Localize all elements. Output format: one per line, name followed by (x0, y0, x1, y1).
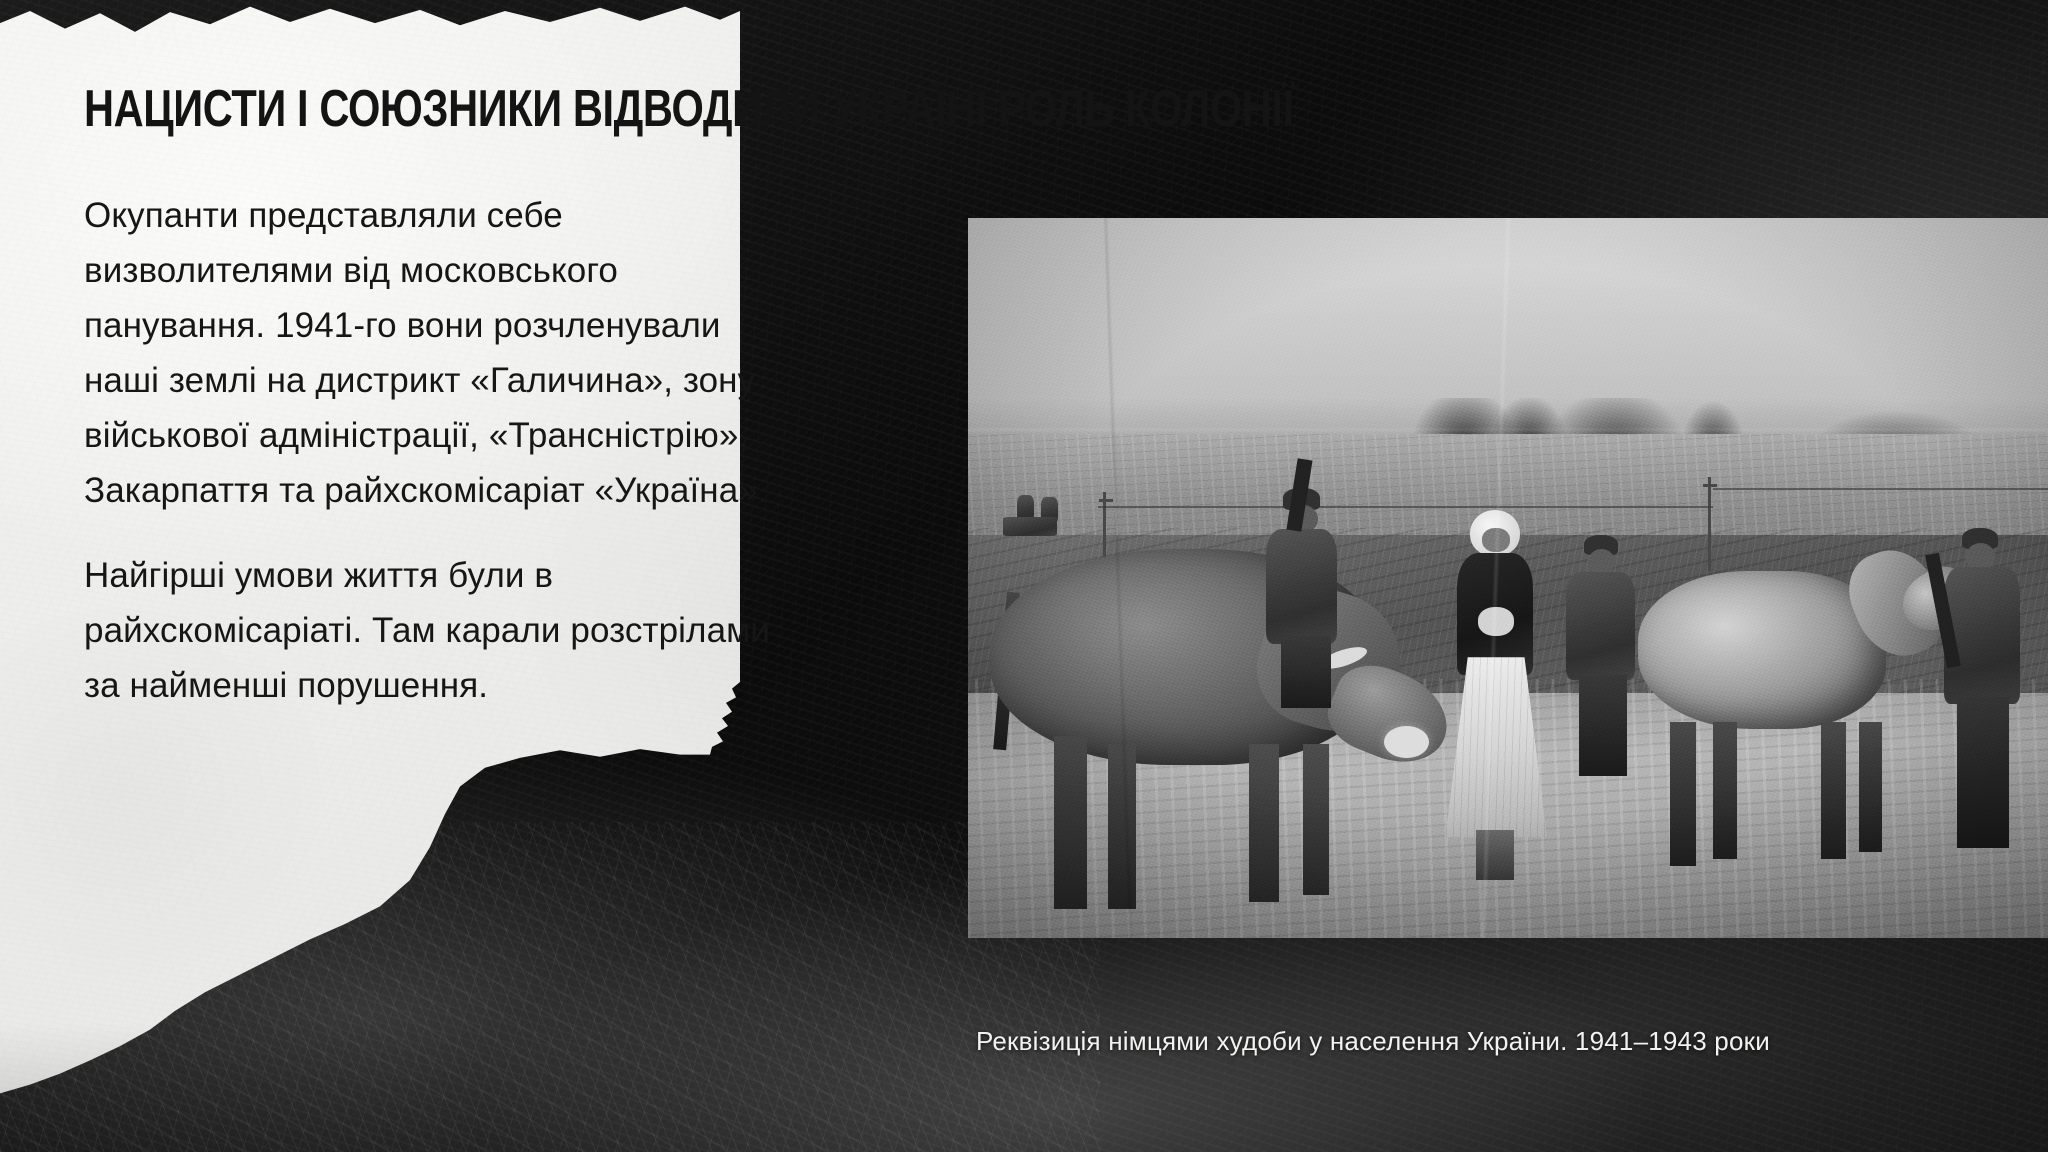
paragraph-2-line: Найгірші умови життя були в (84, 548, 944, 603)
paragraph-2-line: райхскомісаріаті. Там карали розстрілами (84, 603, 944, 658)
paragraph-1-line: визволителями від московського (84, 243, 944, 298)
paragraph-1-line: наші землі на дистрикт «Галичина», зону (84, 353, 944, 408)
paragraph-1-line: Закарпаття та райхскомісаріат «Україна». (84, 463, 944, 518)
paragraph-1-line: Окупанти представляли себе (84, 188, 944, 243)
slide-root: НАЦИСТИ І СОЮЗНИКИ ВІДВОДИЛИ УКРАЇНІ РОЛ… (0, 0, 2048, 1152)
body-paragraph-2: Найгірші умови життя були в райхскомісар… (84, 548, 944, 713)
photo-caption: Реквізиція німцями худоби у населення Ук… (976, 1026, 1770, 1057)
paragraph-1-line: військової адміністрації, «Трансністрію»… (84, 408, 944, 463)
paragraph-1-line: панування. 1941-го вони розчленували (84, 298, 944, 353)
page-title: НАЦИСТИ І СОЮЗНИКИ ВІДВОДИЛИ УКРАЇНІ РОЛ… (84, 80, 1220, 138)
body-paragraph-1: Окупанти представляли себе визволителями… (84, 188, 944, 518)
paragraph-2-line: за найменші порушення. (84, 658, 944, 713)
photo-image (968, 218, 2048, 938)
archival-photo (968, 218, 2048, 938)
photo-scratches (968, 218, 2048, 938)
